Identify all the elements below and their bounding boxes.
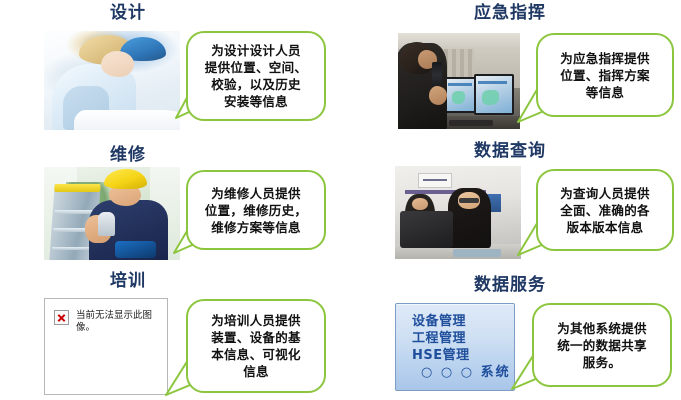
callout-query-text: 为查询人员提供 全面、准确的各 版本版本信息 bbox=[552, 185, 658, 236]
broken-image-content: 当前无法显示此图像。 bbox=[45, 299, 167, 334]
slide-canvas: 设计 为设计设计人员 提供位置、空间、 校验，以及历史 安装等信息 应急指挥 bbox=[0, 0, 681, 400]
callout-design-text: 为设计设计人员 提供位置、空间、 校验，以及历史 安装等信息 bbox=[197, 42, 315, 110]
query-photo-scene bbox=[395, 166, 521, 259]
eyeglasses bbox=[459, 198, 479, 202]
ladder-top-cap bbox=[54, 184, 101, 192]
panel-training: 培训 当前无法显示此图像。 为培训人员提供 装置、设备的基 本信息、可视化 信息 bbox=[0, 265, 340, 400]
keyboard bbox=[449, 120, 493, 126]
broken-image-placeholder: 当前无法显示此图像。 bbox=[44, 298, 168, 395]
service-item-hse: HSE管理 bbox=[412, 347, 514, 364]
callout-emergency-text: 为应急指挥提供 位置、指挥方案 等信息 bbox=[552, 50, 658, 101]
panel-title-dataservice: 数据服务 bbox=[445, 277, 575, 294]
callout-emergency: 为应急指挥提供 位置、指挥方案 等信息 bbox=[536, 33, 674, 117]
broken-image-message: 当前无法显示此图像。 bbox=[76, 310, 159, 334]
desktop-monitor bbox=[400, 211, 453, 248]
service-item-engineering: 工程管理 bbox=[412, 330, 514, 347]
panel-title-design: 设计 bbox=[78, 5, 178, 22]
monitor-left-titlebar bbox=[448, 83, 471, 86]
panel-title-training: 培训 bbox=[78, 273, 178, 290]
emergency-photo-scene bbox=[398, 33, 520, 129]
panel-query: 数据查询 为查询人员提供 全面、准确的各 版本版本信息 bbox=[340, 145, 681, 265]
power-drill bbox=[115, 241, 156, 258]
service-item-other-systems: ○ ○ ○ 系统 bbox=[412, 364, 514, 381]
employee-front bbox=[448, 188, 491, 248]
wall-sign-text bbox=[423, 179, 447, 181]
commander-hand bbox=[429, 86, 447, 105]
callout-maintenance-text: 为维修人员提供 位置，维修历史， 维修方案等信息 bbox=[197, 185, 315, 236]
data-query-office-photo bbox=[395, 166, 521, 259]
hand-tool bbox=[98, 212, 114, 236]
wall-sign bbox=[418, 173, 453, 187]
desk-pad bbox=[453, 249, 501, 257]
emergency-command-photo bbox=[398, 33, 520, 129]
monitor-right-map bbox=[482, 90, 499, 105]
designer-blueprint bbox=[74, 110, 180, 130]
panel-title-emergency: 应急指挥 bbox=[450, 5, 570, 22]
panel-title-query: 数据查询 bbox=[445, 143, 575, 160]
monitor-left-map bbox=[452, 91, 465, 104]
panel-design: 设计 为设计设计人员 提供位置、空间、 校验，以及历史 安装等信息 bbox=[0, 0, 340, 145]
broken-image-icon bbox=[54, 310, 69, 325]
maintenance-photo-scene bbox=[44, 167, 180, 260]
callout-training: 为培训人员提供 装置、设备的基 本信息、可视化 信息 bbox=[186, 299, 326, 393]
designer-photo bbox=[44, 31, 180, 130]
callout-dataservice-text: 为其他系统提供 统一的数据共享 服务。 bbox=[549, 320, 655, 371]
panel-title-maintenance: 维修 bbox=[78, 147, 178, 164]
callout-design: 为设计设计人员 提供位置、空间、 校验，以及历史 安装等信息 bbox=[186, 31, 326, 121]
callout-query: 为查询人员提供 全面、准确的各 版本版本信息 bbox=[536, 169, 674, 251]
maintenance-worker-photo bbox=[44, 167, 180, 260]
designer-face bbox=[101, 51, 134, 77]
monitor-left bbox=[444, 77, 477, 113]
panel-dataservice: 数据服务 设备管理 工程管理 HSE管理 ○ ○ ○ 系统 为其他系统提供 统一… bbox=[340, 265, 681, 400]
panel-emergency: 应急指挥 bbox=[340, 0, 681, 145]
callout-training-text: 为培训人员提供 装置、设备的基 本信息、可视化 信息 bbox=[203, 312, 309, 380]
panel-maintenance: 维修 bbox=[0, 145, 340, 265]
designer-photo-scene bbox=[44, 31, 180, 130]
callout-maintenance: 为维修人员提供 位置，维修历史， 维修方案等信息 bbox=[186, 170, 326, 250]
monitor-right-titlebar bbox=[478, 81, 507, 84]
service-item-equipment: 设备管理 bbox=[412, 313, 514, 330]
data-service-box: 设备管理 工程管理 HSE管理 ○ ○ ○ 系统 bbox=[395, 303, 515, 391]
yellow-hardhat bbox=[104, 169, 148, 189]
employee-back-face bbox=[412, 198, 428, 211]
callout-dataservice: 为其他系统提供 统一的数据共享 服务。 bbox=[532, 303, 672, 387]
